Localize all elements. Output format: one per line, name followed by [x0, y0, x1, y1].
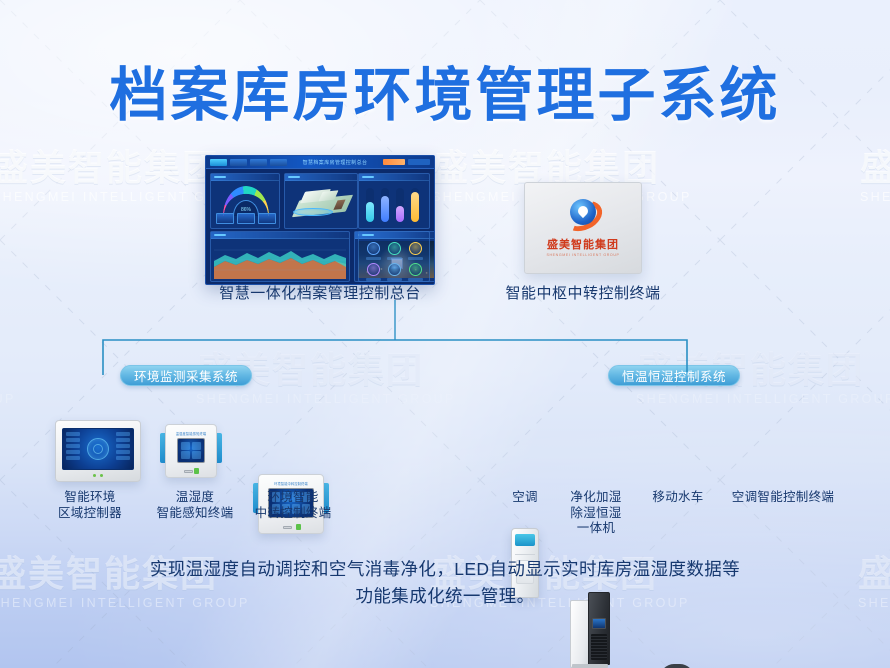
label-line-3: 一体机	[556, 521, 636, 537]
dashboard-status-badge	[383, 159, 405, 165]
quick-button-air[interactable]	[258, 213, 276, 224]
power-plug-icon	[194, 468, 199, 474]
power-icon	[367, 263, 380, 276]
device-screen-caption: 环境智能中转控制终端	[259, 481, 323, 486]
speaker-icon	[388, 263, 401, 276]
panel-title-bar	[285, 174, 357, 181]
hub-brand-cn: 盛美智能集团	[547, 236, 619, 252]
bracket-connector	[100, 300, 720, 390]
dashboard-panel-metrics[interactable]	[358, 173, 430, 229]
status-cell	[385, 242, 404, 260]
dashboard-console-screen[interactable]: 智慧档案库房管理控制总台 86%	[205, 155, 435, 285]
label-line-2: 区域控制器	[40, 506, 140, 522]
device-knob[interactable]	[283, 526, 292, 529]
label-line-1: 净化加湿	[556, 490, 636, 506]
label-line-1: 温湿度	[145, 490, 245, 506]
summary-line-1: 实现温湿度自动调控和空气消毒净化，LED自动显示实时库房温湿度数据等	[0, 556, 890, 583]
bar-column	[381, 188, 389, 222]
device-label-relay-terminal: 环境智能 中转控制终端	[243, 490, 343, 521]
device-label-ac-terminal: 空调智能控制终端	[718, 490, 848, 506]
controller-screen: 智能环境区域控制器	[62, 428, 134, 470]
dashboard-panel-overview[interactable]: 86%	[210, 173, 280, 229]
label-line-2: 除湿恒湿	[556, 506, 636, 522]
status-cell	[406, 263, 425, 281]
screen-radar-graphic	[87, 438, 109, 460]
label-line-1: 空调智能控制终端	[718, 490, 848, 506]
status-cell	[385, 263, 404, 281]
bar-column	[366, 188, 374, 222]
label-line-1: 环境智能	[243, 490, 343, 506]
device-status-icon-grid	[364, 242, 425, 281]
dashboard-panel-device-status[interactable]	[358, 231, 430, 282]
slide-content: 档案库房环境管理子系统 智慧档案库房管理控制总台 86%	[0, 0, 890, 668]
purifier-air-grille	[591, 634, 607, 660]
panel-title-bar	[211, 232, 349, 239]
dashboard-panel-3d-model[interactable]	[284, 173, 358, 229]
alert-icon	[409, 242, 422, 255]
dashboard-header: 智慧档案库房管理控制总台	[206, 156, 434, 169]
device-humidity-sensor-terminal[interactable]: 温湿度智能感知终端	[160, 424, 222, 478]
dashboard-title: 智慧档案库房管理控制总台	[290, 159, 380, 166]
dashboard-time-badge	[408, 159, 430, 165]
fan-icon	[409, 263, 422, 276]
label-line-2: 智能感知终端	[145, 506, 245, 522]
cart-handle	[660, 664, 694, 668]
ac-vent	[515, 534, 535, 546]
purifier-base	[572, 664, 608, 668]
humidity-icon	[367, 242, 380, 255]
trend-area-chart	[214, 241, 346, 279]
panel-title-bar	[359, 174, 429, 181]
device-knob[interactable]	[184, 470, 193, 473]
status-cell	[406, 242, 425, 260]
panel-title-bar	[359, 232, 429, 239]
device-environment-area-controller[interactable]: 智能环境区域控制器	[55, 420, 141, 482]
page-title: 档案库房环境管理子系统	[0, 48, 890, 132]
label-line-2: 中转控制终端	[243, 506, 343, 522]
panel-title-bar	[211, 174, 279, 181]
dashboard-body: 86%	[206, 169, 434, 285]
bar-column	[411, 188, 419, 222]
purifier-display-screen	[592, 618, 606, 629]
label-line-1: 空调	[487, 490, 563, 506]
dashboard-nav-item-1[interactable]	[230, 159, 247, 166]
ac-seam	[515, 554, 535, 555]
hub-brand-en: SHENGMEI INTELLIGENT GROUP	[546, 253, 619, 257]
shengmei-logo-icon	[563, 199, 603, 233]
device-screen	[177, 438, 205, 463]
device-label-air-conditioner: 空调	[487, 490, 563, 506]
dashboard-nav-item-3[interactable]	[270, 159, 287, 166]
summary-line-2: 功能集成化统一管理。	[0, 583, 890, 610]
quick-button-temperature[interactable]	[216, 213, 234, 224]
device-label-area-controller: 智能环境 区域控制器	[40, 490, 140, 521]
quick-button-group[interactable]	[216, 213, 276, 224]
device-indicator-lights	[62, 474, 134, 477]
status-cell	[364, 263, 383, 281]
dashboard-nav-item-2[interactable]	[250, 159, 267, 166]
quick-button-humidity[interactable]	[237, 213, 255, 224]
label-line-1: 移动水车	[638, 490, 718, 506]
power-plug-icon	[296, 524, 301, 530]
device-label-water-cart: 移动水车	[638, 490, 718, 506]
summary-caption: 实现温湿度自动调控和空气消毒净化，LED自动显示实时库房温湿度数据等 功能集成化…	[0, 556, 890, 610]
dashboard-nav-item-0[interactable]	[210, 159, 227, 166]
hub-terminal-device[interactable]: 盛美智能集团 SHENGMEI INTELLIGENT GROUP	[524, 182, 642, 274]
dashboard-panel-trend[interactable]	[210, 231, 350, 282]
bar-column	[396, 188, 404, 222]
device-label-purifier: 净化加湿 除湿恒湿 一体机	[556, 490, 636, 537]
label-line-1: 智能环境	[40, 490, 140, 506]
metric-bar-chart	[366, 186, 419, 222]
device-body: 温湿度智能感知终端	[165, 424, 217, 478]
status-cell	[364, 242, 383, 260]
device-screen-caption: 温湿度智能感知终端	[166, 431, 216, 436]
device-label-humidity-sensor: 温湿度 智能感知终端	[145, 490, 245, 521]
model-base-ring	[293, 208, 333, 216]
temperature-icon	[388, 242, 401, 255]
device-mobile-water-cart[interactable]	[648, 664, 708, 668]
